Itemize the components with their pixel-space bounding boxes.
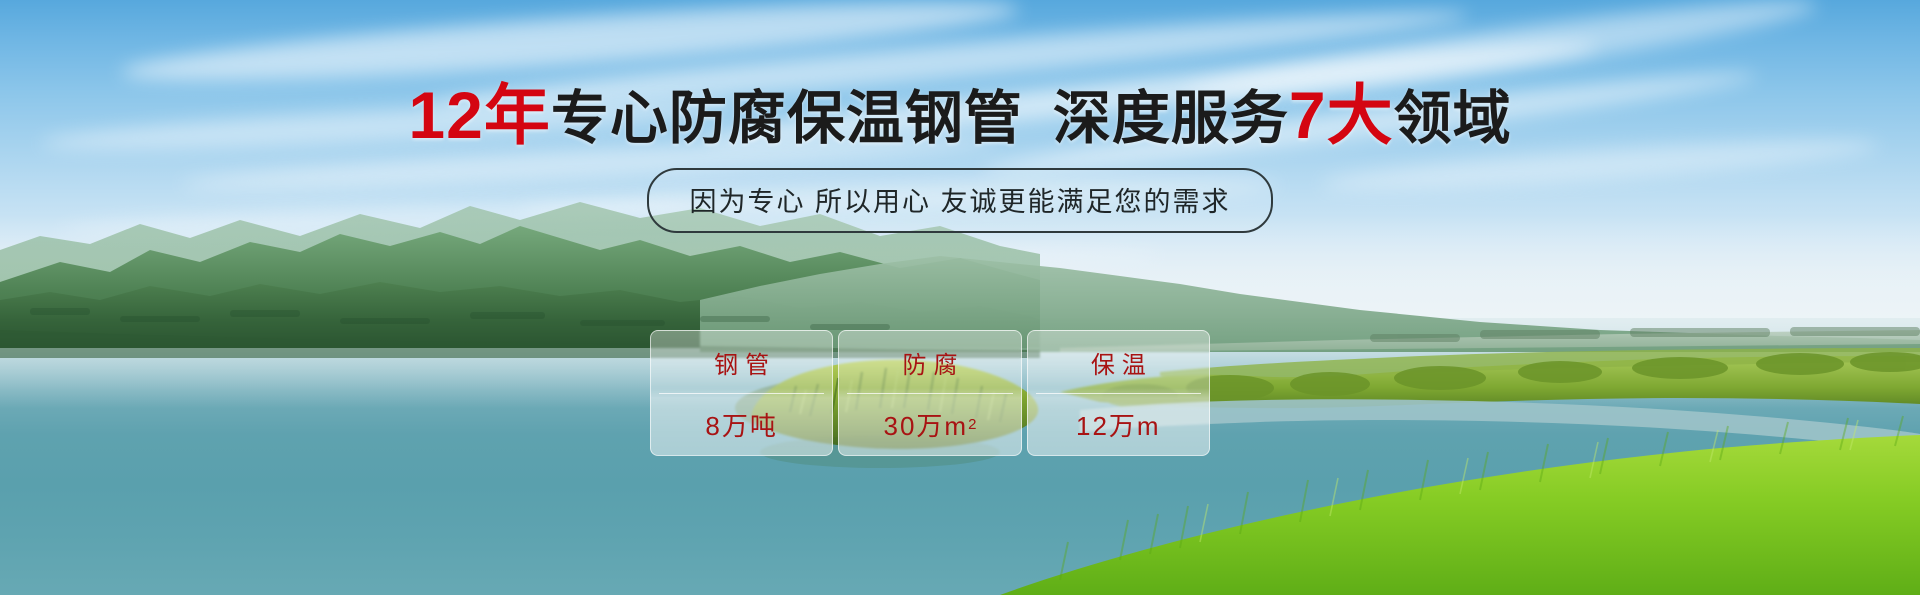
card-divider [659, 393, 824, 394]
stat-card-title: 钢管 [707, 331, 776, 393]
card-divider [847, 393, 1012, 394]
stat-value-superscript: 2 [968, 416, 976, 433]
stat-card-value: 8万吨 [705, 393, 777, 455]
headline-service-text: 深度服务 [1053, 86, 1289, 151]
stat-card-title: 防腐 [895, 331, 964, 393]
page-title: 12年专心防腐保温钢管深度服务7大领域 [0, 82, 1920, 148]
stat-card-value: 12万m [1076, 393, 1161, 455]
stat-card-steel-pipe[interactable]: 钢管 8万吨 [650, 330, 833, 456]
stat-card-title: 保温 [1084, 331, 1153, 393]
stat-value-text: 12万m [1076, 406, 1161, 443]
subtitle-pill: 因为专心 所以用心 友诚更能满足您的需求 [647, 168, 1272, 233]
headline-red-fields: 7大 [1289, 78, 1394, 152]
card-divider [1036, 393, 1201, 394]
stat-card-insulation[interactable]: 保温 12万m [1027, 330, 1210, 456]
stat-value-text: 8万吨 [705, 406, 777, 443]
stat-card-value: 30万m2 [884, 393, 977, 455]
headline-red-years: 12年 [408, 78, 550, 152]
subtitle-container: 因为专心 所以用心 友诚更能满足您的需求 [0, 168, 1920, 233]
headline-main-text: 专心防腐保温钢管 [551, 86, 1023, 151]
headline-fields-text: 领域 [1394, 86, 1512, 151]
stat-value-text: 30万m [884, 406, 969, 443]
hero-banner: 12年专心防腐保温钢管深度服务7大领域 因为专心 所以用心 友诚更能满足您的需求… [0, 0, 1920, 595]
stat-cards-group: 钢管 8万吨 防腐 30万m2 保温 12万m [650, 330, 1210, 456]
stat-card-anticorrosion[interactable]: 防腐 30万m2 [838, 330, 1021, 456]
